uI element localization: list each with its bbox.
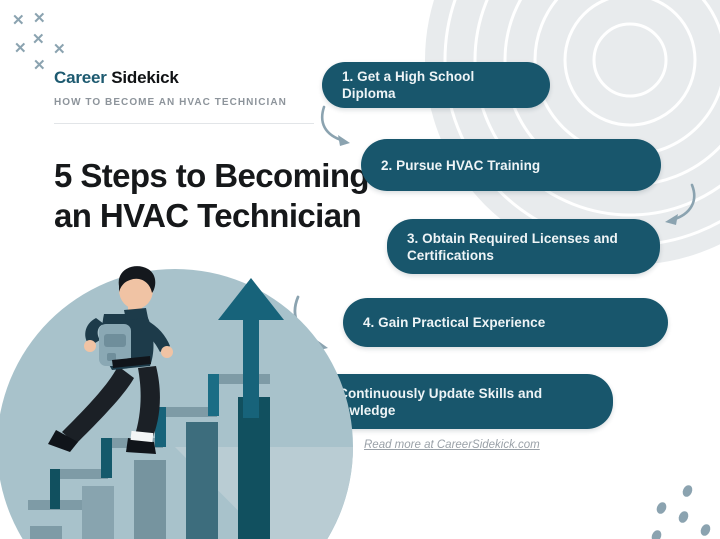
brand-word-primary: Career bbox=[54, 68, 107, 87]
dot-icon bbox=[655, 501, 668, 516]
up-arrow-icon bbox=[218, 278, 284, 418]
dot-icon bbox=[681, 484, 694, 499]
bar-chart bbox=[30, 397, 270, 539]
curved-arrow-icon bbox=[288, 292, 346, 354]
x-mark-icon: ✕ bbox=[53, 42, 66, 57]
dot-icon bbox=[699, 523, 712, 538]
read-more-link[interactable]: Read more at CareerSidekick.com bbox=[364, 439, 540, 451]
walking-person bbox=[48, 266, 173, 454]
kicker-text: HOW TO BECOME AN HVAC TECHNICIAN bbox=[54, 97, 287, 108]
backpack bbox=[99, 324, 131, 366]
step-label-3: 3. Obtain Required Licenses and Certific… bbox=[407, 230, 640, 264]
dot-icon bbox=[677, 510, 690, 525]
x-mark-icon: ✕ bbox=[33, 11, 46, 26]
step-pill-5[interactable]: 5. Continuously Update Skills and Knowle… bbox=[303, 374, 613, 429]
step-pill-4[interactable]: 4. Gain Practical Experience bbox=[343, 298, 668, 347]
x-mark-icon: ✕ bbox=[33, 58, 46, 73]
brand-word-secondary: Sidekick bbox=[111, 68, 178, 87]
infographic-canvas: ✕ ✕ ✕ ✕ ✕ ✕ Career Sidekick HOW TO BECOM… bbox=[0, 0, 720, 539]
x-mark-icon: ✕ bbox=[32, 32, 45, 47]
staircase bbox=[28, 374, 270, 539]
dot-icon bbox=[650, 529, 663, 539]
curved-arrow-icon bbox=[648, 182, 702, 230]
step-pill-1[interactable]: 1. Get a High School Diploma bbox=[322, 62, 550, 108]
step-label-2: 2. Pursue HVAC Training bbox=[381, 157, 540, 174]
step-pill-2[interactable]: 2. Pursue HVAC Training bbox=[361, 139, 661, 191]
x-mark-icon: ✕ bbox=[12, 13, 25, 28]
step-label-4: 4. Gain Practical Experience bbox=[363, 314, 545, 331]
circle-backdrop bbox=[0, 269, 353, 539]
step-label-1: 1. Get a High School Diploma bbox=[342, 68, 530, 102]
curved-arrow-icon bbox=[316, 104, 370, 150]
page-title: 5 Steps to Becoming an HVAC Technician bbox=[54, 156, 384, 236]
brand-logo[interactable]: Career Sidekick bbox=[54, 68, 179, 88]
step-label-5: 5. Continuously Update Skills and Knowle… bbox=[323, 385, 593, 419]
x-mark-icon: ✕ bbox=[14, 41, 27, 56]
header-divider bbox=[54, 123, 314, 124]
step-pill-3[interactable]: 3. Obtain Required Licenses and Certific… bbox=[387, 219, 660, 274]
